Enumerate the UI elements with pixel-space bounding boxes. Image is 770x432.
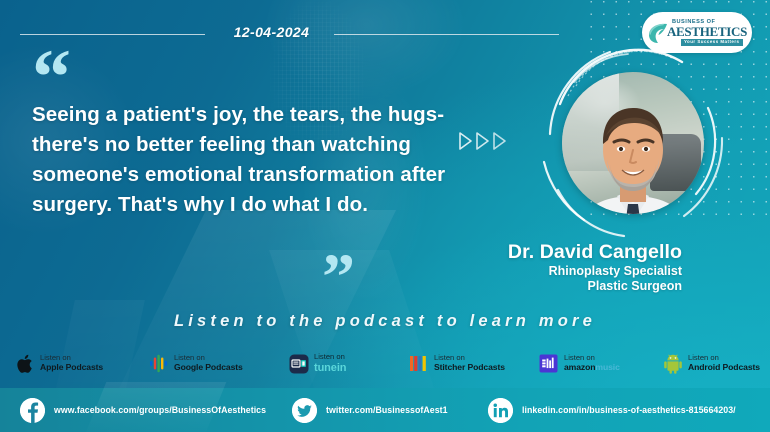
twitter-icon: [292, 398, 317, 423]
speaker-portrait-wrapper: [548, 58, 718, 228]
linkedin-url: linkedin.com/in/business-of-aesthetics-8…: [522, 405, 736, 415]
badge-google-podcasts[interactable]: Listen on Google Podcasts: [148, 353, 243, 374]
badge-platform: Stitcher Podcasts: [434, 363, 505, 373]
apple-icon: [14, 353, 35, 374]
divider-line-right: [334, 34, 559, 35]
play-arrows-decoration: [458, 131, 507, 151]
badge-stitcher-podcasts[interactable]: Listen on Stitcher Podcasts: [408, 353, 505, 374]
leaf-swoosh-icon: [647, 21, 669, 45]
stitcher-icon: [408, 353, 429, 374]
speaker-role-primary: Rhinoplasty Specialist: [549, 264, 682, 278]
badge-apple-podcasts[interactable]: Listen on Apple Podcasts: [14, 353, 103, 374]
speaker-photo: [562, 72, 704, 214]
triangle-arrow-icon: [492, 131, 507, 151]
triangle-arrow-icon: [475, 131, 490, 151]
badge-text: Listen on Google Podcasts: [174, 354, 243, 372]
podcast-platform-badges: Listen on Apple Podcasts Listen on Googl…: [0, 348, 770, 382]
badge-amazon-music[interactable]: Listen on amazonmusic: [538, 353, 620, 374]
podcast-quote-card: 12-04-2024 BUSINESS OF AESTHETICS Your S…: [0, 0, 770, 432]
badge-tunein[interactable]: Listen on tunein: [288, 353, 346, 374]
speaker-role-secondary: Plastic Surgeon: [588, 279, 682, 293]
episode-date: 12-04-2024: [215, 24, 328, 40]
badge-platform: Google Podcasts: [174, 363, 243, 373]
social-link-linkedin[interactable]: linkedin.com/in/business-of-aesthetics-8…: [488, 398, 736, 423]
android-icon: [662, 353, 683, 374]
quote-text: Seeing a patient's joy, the tears, the h…: [32, 100, 452, 220]
tunein-icon: [288, 353, 309, 374]
quote-close-mark: ”: [322, 245, 355, 311]
speaker-name: Dr. David Cangello: [508, 241, 682, 264]
badge-text: Listen on amazonmusic: [564, 354, 620, 372]
badge-text: Listen on Android Podcasts: [688, 354, 760, 372]
badge-text: Listen on Stitcher Podcasts: [434, 354, 505, 372]
badge-listen-on: Listen on: [314, 353, 346, 362]
badge-platform: amazon: [564, 362, 595, 372]
facebook-url: www.facebook.com/groups/BusinessOfAesthe…: [54, 405, 266, 415]
badge-platform: Apple Podcasts: [40, 363, 103, 373]
social-link-facebook[interactable]: www.facebook.com/groups/BusinessOfAesthe…: [20, 398, 266, 423]
twitter-url: twitter.com/BusinessofAest1: [326, 405, 448, 415]
badge-android-podcasts[interactable]: Listen on Android Podcasts: [662, 353, 760, 374]
facebook-icon: [20, 398, 45, 423]
cta-text: Listen to the podcast to learn more: [0, 312, 770, 331]
social-links-bar: www.facebook.com/groups/BusinessOfAesthe…: [0, 388, 770, 432]
badge-text: Listen on Apple Podcasts: [40, 354, 103, 372]
triangle-arrow-icon: [458, 131, 473, 151]
badge-platform: tunein: [314, 362, 346, 374]
google-podcasts-icon: [148, 353, 169, 374]
badge-platform-row: amazonmusic: [564, 363, 620, 373]
badge-platform: Android Podcasts: [688, 363, 760, 373]
amazon-music-icon: [538, 353, 559, 374]
portrait-figure: [562, 92, 704, 214]
logo-line-main: AESTHETICS: [667, 25, 747, 38]
badge-platform-suffix: music: [595, 362, 619, 372]
badge-text: Listen on tunein: [314, 353, 346, 374]
linkedin-icon: [488, 398, 513, 423]
social-link-twitter[interactable]: twitter.com/BusinessofAest1: [292, 398, 448, 423]
